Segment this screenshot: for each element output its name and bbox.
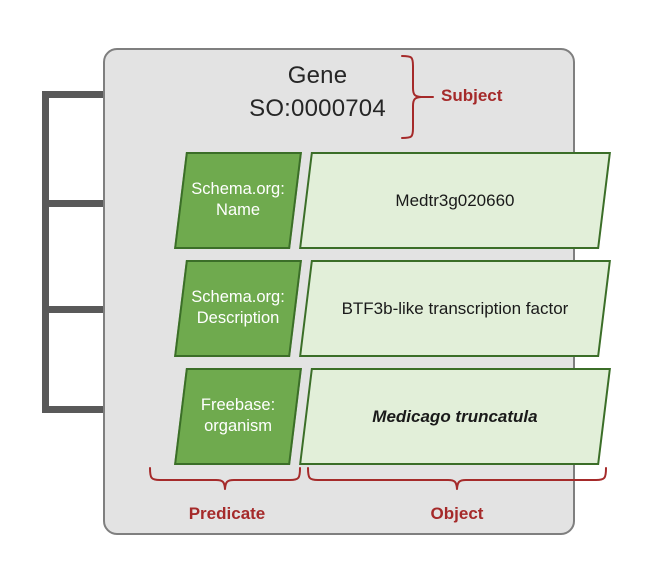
object-label-1: Medtr3g020660	[320, 190, 590, 212]
diagram-canvas: Gene SO:0000704 Subject Schema.org: Name…	[0, 0, 664, 575]
predicate-shape-2[interactable]: Schema.org: Description	[174, 260, 302, 357]
object-shape-1[interactable]: Medtr3g020660	[299, 152, 611, 249]
predicate-label-1: Schema.org: Name	[182, 179, 294, 221]
subject-annotation-label: Subject	[441, 86, 502, 106]
predicate-label-3: Freebase: organism	[182, 395, 294, 437]
predicate-brace	[148, 466, 304, 500]
subject-node: Gene SO:0000704	[230, 59, 405, 125]
subject-type-label: Gene	[230, 59, 405, 92]
subject-brace	[400, 54, 430, 140]
connector-spine	[42, 91, 49, 413]
predicate-shape-1[interactable]: Schema.org: Name	[174, 152, 302, 249]
subject-identifier: SO:0000704	[230, 92, 405, 125]
predicate-label-2: Schema.org: Description	[182, 287, 294, 329]
predicate-annotation-label: Predicate	[178, 504, 276, 524]
object-annotation-label: Object	[407, 504, 507, 524]
object-shape-2[interactable]: BTF3b-like transcription factor	[299, 260, 611, 357]
object-shape-3[interactable]: Medicago truncatula	[299, 368, 611, 465]
object-brace	[306, 466, 610, 500]
object-label-2: BTF3b-like transcription factor	[320, 298, 590, 320]
predicate-shape-3[interactable]: Freebase: organism	[174, 368, 302, 465]
object-label-3: Medicago truncatula	[320, 406, 590, 428]
